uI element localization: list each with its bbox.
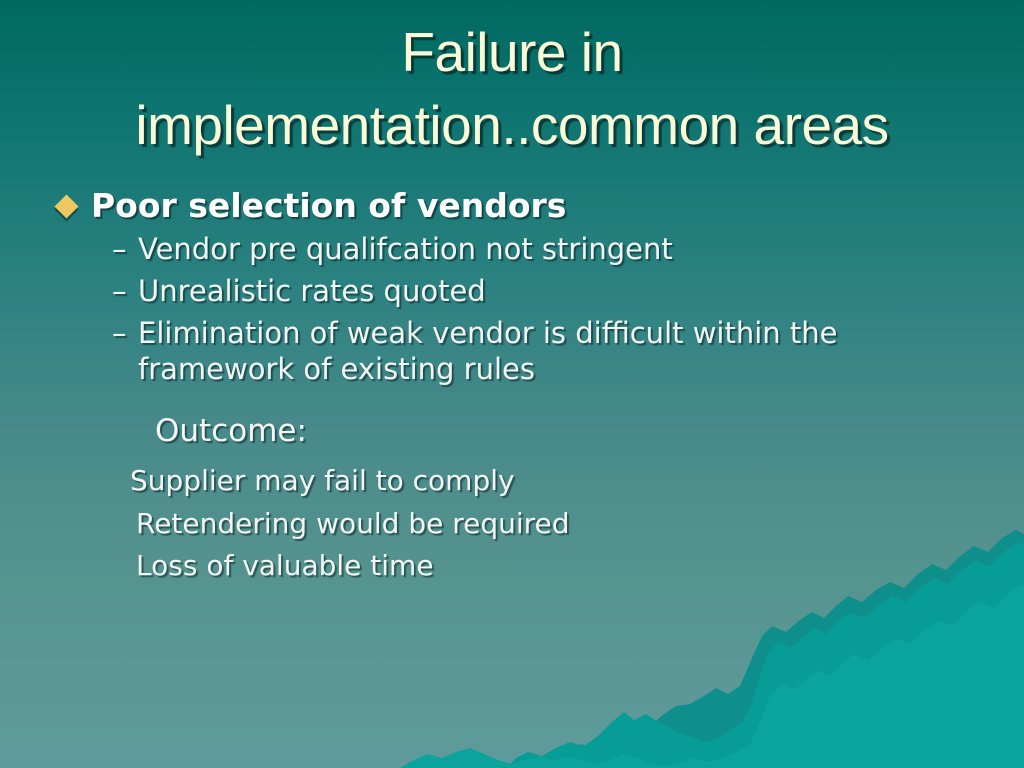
slide-title-line-2: implementation..common areas <box>40 89 984 162</box>
slide-canvas: Failure in implementation..common areas … <box>0 0 1024 768</box>
outcome-item-1: Supplier may fail to comply <box>0 464 1024 498</box>
outcome-item-2: Retendering would be required <box>0 507 1024 541</box>
bullet-sub-1-label: Vendor pre qualifcation not stringent <box>138 232 673 267</box>
dash-bullet-icon: – <box>112 274 138 309</box>
bullet-item-sub-3: – Elimination of weak vendor is difficul… <box>0 316 1024 387</box>
bullet-sub-3-label: Elimination of weak vendor is difficult … <box>138 316 910 387</box>
bullet-sub-2-label: Unrealistic rates quoted <box>138 274 486 309</box>
ridge-foreground-shape <box>400 584 1024 768</box>
slide-title-line-1: Failure in <box>40 16 984 89</box>
outcome-item-3: Loss of valuable time <box>0 549 1024 583</box>
dash-bullet-icon: – <box>112 232 138 267</box>
dash-bullet-icon: – <box>112 316 138 351</box>
slide-body: Poor selection of vendors – Vendor pre q… <box>0 186 1024 592</box>
bullet-item-sub-1: – Vendor pre qualifcation not stringent <box>0 232 1024 267</box>
bullet-primary-label: Poor selection of vendors <box>91 186 566 226</box>
diamond-bullet-icon <box>54 194 78 218</box>
outcome-heading: Outcome: <box>0 413 1024 450</box>
slide-title: Failure in implementation..common areas <box>40 16 984 161</box>
bullet-item-primary: Poor selection of vendors <box>0 186 1024 226</box>
bullet-item-sub-2: – Unrealistic rates quoted <box>0 274 1024 309</box>
